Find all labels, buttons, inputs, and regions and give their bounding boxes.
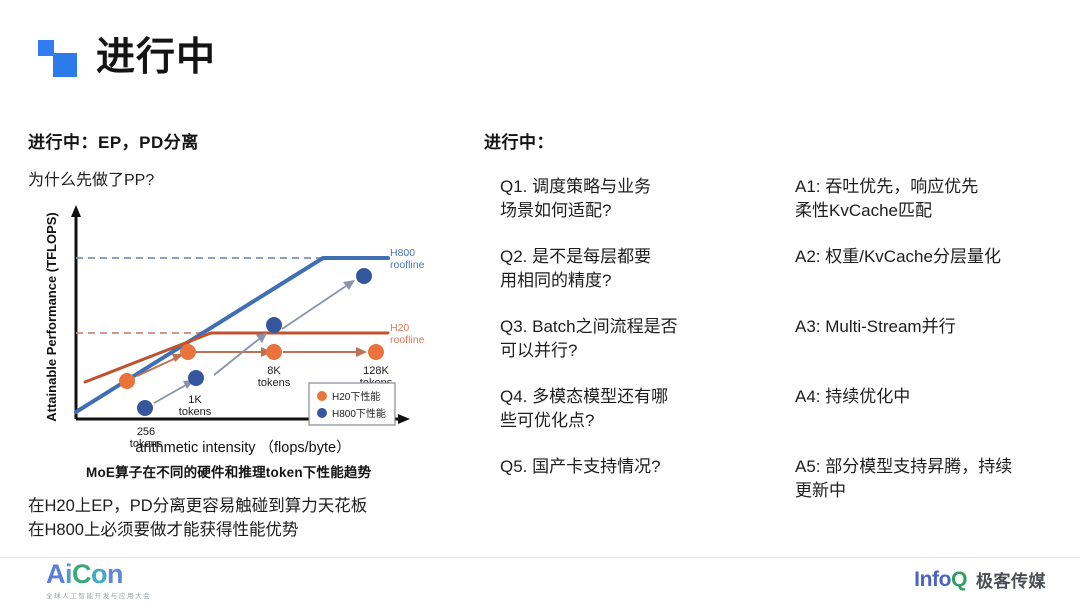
aicon-letter-n: n xyxy=(107,559,123,589)
svg-text:H800: H800 xyxy=(390,247,415,259)
aicon-wordmark: AiCon xyxy=(46,561,276,588)
qa-question: Q4. 多模态模型还有哪 些可优化点? xyxy=(484,385,795,434)
right-section-heading: 进行中： xyxy=(484,128,1054,153)
qa-row: Q2. 是不是每层都要 用相同的精度? A2: 权重/KvCache分层量化 xyxy=(484,245,1054,294)
svg-text:H800下性能: H800下性能 xyxy=(332,407,386,420)
chart-y-axis-label: Attainable Performance (TFLOPS) xyxy=(44,212,59,421)
page-title: 进行中 xyxy=(96,38,216,77)
svg-text:roofline: roofline xyxy=(390,334,425,346)
aicon-letter-c: C xyxy=(72,559,91,589)
roofline-chart: 256 tokens 1K tokens 8K tokens 128K toke… xyxy=(28,197,448,459)
logo-square-small xyxy=(38,40,54,56)
qa-answer: A2: 权重/KvCache分层量化 xyxy=(795,245,1054,269)
chart-x-axis-label: arithmetic intensity （flops/byte） xyxy=(135,439,350,456)
left-column: 进行中：EP，PD分离 为什么先做了PP? xyxy=(28,128,476,543)
svg-text:tokens: tokens xyxy=(258,377,291,389)
chart-roofline-annotations: H800 roofline H20 roofline xyxy=(390,247,425,346)
qa-question: Q2. 是不是每层都要 用相同的精度? xyxy=(484,245,795,294)
svg-text:256: 256 xyxy=(137,426,155,438)
aicon-letter-o: o xyxy=(91,559,107,589)
infoq-text-info: Info xyxy=(914,568,951,591)
aicon-letter-i: i xyxy=(65,559,72,589)
qa-row: Q4. 多模态模型还有哪 些可优化点? A4: 持续优化中 xyxy=(484,385,1054,434)
qa-row: Q1. 调度策略与业务 场景如何适配? A1: 吞吐优先，响应优先 柔性KvCa… xyxy=(484,175,1054,224)
infoq-logo: InfoQ 极客传媒 xyxy=(914,567,1046,592)
geek-media-label: 极客传媒 xyxy=(976,567,1046,592)
qa-row: Q5. 国产卡支持情况? A5: 部分模型支持昇腾，持续 更新中 xyxy=(484,455,1054,504)
slide-header: 进行中 xyxy=(38,36,216,78)
svg-text:128K: 128K xyxy=(363,365,389,377)
svg-text:H20下性能: H20下性能 xyxy=(332,390,380,403)
qa-list: Q1. 调度策略与业务 场景如何适配? A1: 吞吐优先，响应优先 柔性KvCa… xyxy=(484,175,1054,504)
conclusion-text: 在H20上EP，PD分离更容易触碰到算力天花板 在H800上必须要做才能获得性能… xyxy=(28,495,476,543)
aicon-subtitle: 全球人工智能开发与应用大会 xyxy=(46,590,276,600)
chart-legend: H20下性能 H800下性能 xyxy=(309,383,395,425)
infoq-wordmark: InfoQ xyxy=(914,569,967,590)
qa-answer: A5: 部分模型支持昇腾，持续 更新中 xyxy=(795,455,1054,504)
qa-answer: A1: 吞吐优先，响应优先 柔性KvCache匹配 xyxy=(795,175,1054,224)
qa-row: Q3. Batch之间流程是否 可以并行? A3: Multi-Stream并行 xyxy=(484,315,1054,364)
conclusion-line-2: 在H800上必须要做才能获得性能优势 xyxy=(28,519,476,543)
aicon-letter-a: A xyxy=(46,559,65,589)
qa-answer: A4: 持续优化中 xyxy=(795,385,1054,409)
logo-square-large xyxy=(53,53,77,77)
chart-caption: MoE算子在不同的硬件和推理token下性能趋势 xyxy=(86,461,476,481)
conclusion-line-1: 在H20上EP，PD分离更容易触碰到算力天花板 xyxy=(28,495,476,519)
qa-question: Q3. Batch之间流程是否 可以并行? xyxy=(484,315,795,364)
infoq-text-q: Q xyxy=(951,568,967,591)
qa-question: Q1. 调度策略与业务 场景如何适配? xyxy=(484,175,795,224)
qa-answer: A3: Multi-Stream并行 xyxy=(795,315,1054,339)
qa-question: Q5. 国产卡支持情况? xyxy=(484,455,795,479)
left-section-subheading: 为什么先做了PP? xyxy=(28,166,476,190)
right-column: 进行中： Q1. 调度策略与业务 场景如何适配? A1: 吞吐优先，响应优先 柔… xyxy=(484,128,1054,525)
svg-text:tokens: tokens xyxy=(179,406,212,418)
svg-text:roofline: roofline xyxy=(390,259,425,271)
left-section-heading: 进行中：EP，PD分离 xyxy=(28,128,476,153)
two-squares-icon xyxy=(38,36,80,78)
aicon-logo: AiCon 全球人工智能开发与应用大会 xyxy=(46,561,276,600)
footer-divider xyxy=(0,557,1080,558)
svg-text:1K: 1K xyxy=(188,394,202,406)
svg-text:8K: 8K xyxy=(267,365,281,377)
svg-text:H20: H20 xyxy=(390,322,409,334)
